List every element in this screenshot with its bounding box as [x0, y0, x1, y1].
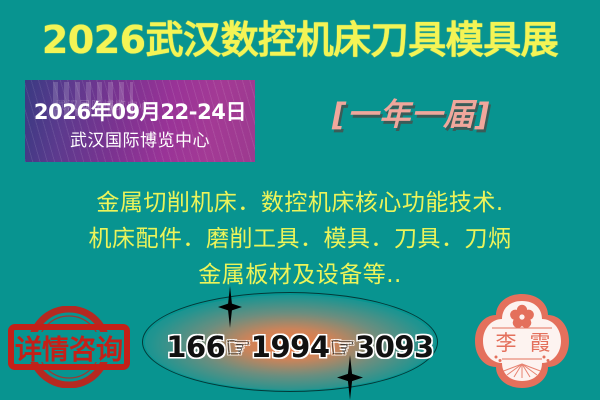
annual-frequency-tag: [一年一届]: [332, 96, 490, 134]
category-line: 金属切削机床．数控机床核心功能技术.: [0, 185, 600, 221]
stamp-label: 详情咨询: [15, 334, 123, 366]
event-venue: 武汉国际博览中心: [25, 126, 255, 151]
category-list: 金属切削机床．数控机床核心功能技术. 机床配件．磨削工具．模具．刀具．刀炳 金属…: [0, 185, 600, 293]
page-title: 2026武汉数控机床刀具模具展: [0, 16, 600, 64]
category-line: 金属板材及设备等..: [0, 257, 600, 293]
badge-given-name: 李: [496, 331, 517, 355]
date-venue-panel: 武汉国际博览中心 2026年09月22-24日 武汉国际博览中心: [25, 80, 255, 162]
event-date: 2026年09月22-24日: [25, 96, 255, 126]
exhibition-poster: 2026武汉数控机床刀具模具展 武汉国际博览中心 2026年09月22-24日 …: [0, 0, 600, 400]
consult-stamp[interactable]: 详情咨询: [8, 306, 130, 388]
category-line: 机床配件．磨削工具．模具．刀具．刀炳: [0, 221, 600, 257]
contact-name-badge[interactable]: 李 霞: [452, 290, 592, 400]
badge-surname: 霞: [530, 331, 551, 355]
